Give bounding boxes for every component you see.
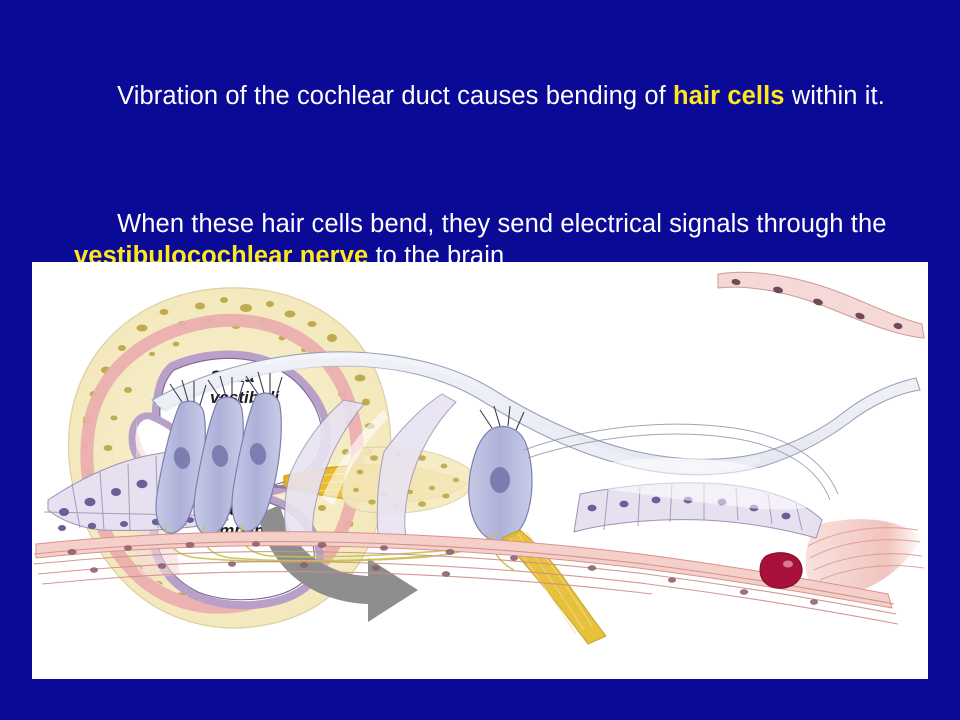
paragraph-1: Vibration of the cochlear duct causes be… (74, 48, 904, 144)
blood-vessel-highlight (783, 561, 793, 568)
paragraph-1-highlight-hair-cells: hair cells (673, 82, 785, 110)
inner-hair-cell (469, 426, 532, 541)
blood-vessel (760, 553, 802, 589)
inner-hair-cell-nucleus (490, 467, 510, 493)
figure-panel: Scala vestibuli Scala tympani (32, 262, 928, 679)
paragraph-1-segment-1: Vibration of the cochlear duct causes be… (117, 82, 673, 110)
cochlea-figure: Scala vestibuli Scala tympani (32, 262, 928, 679)
paragraph-1-segment-3: within it. (785, 82, 885, 110)
slide-canvas: Vibration of the cochlear duct causes be… (0, 0, 960, 720)
paragraph-2-segment-1: When these hair cells bend, they send el… (117, 210, 894, 238)
